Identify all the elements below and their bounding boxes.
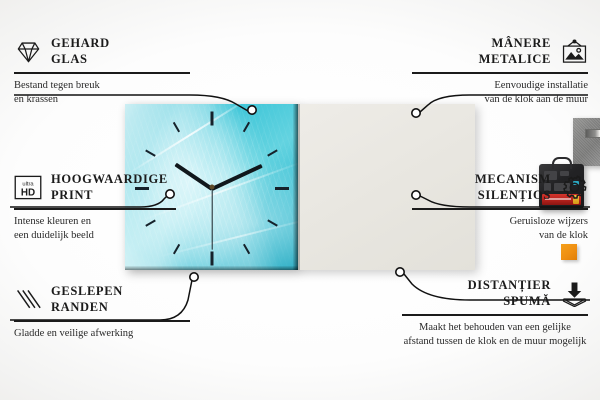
feature-description: Maakt het behouden van een gelijke afsta… [402, 321, 588, 350]
feature-header: MECANISM SILENȚIOS [412, 172, 588, 203]
feature-hd-print: ultra HD HOOGWAARDIGE PRINT Intense kleu… [14, 172, 176, 243]
metal-hanger-plate [573, 118, 600, 166]
second-hand [211, 188, 212, 250]
node-ground-edges [190, 273, 198, 281]
feature-header: GESLEPEN RANDEN [14, 284, 190, 315]
feature-description: Gladde en veilige afwerking [14, 327, 190, 341]
press-down-icon [560, 280, 588, 308]
foam-spacer [561, 244, 577, 260]
feature-title: MÂNERE METALICE [479, 36, 551, 67]
feature-title: GESLEPEN RANDEN [51, 284, 123, 315]
ultra-hd-icon: ultra HD [14, 174, 42, 202]
diagonal-lines-icon [14, 286, 42, 314]
feature-foam-spacer: DISTANȚIER SPUMĂ Maakt het behouden van … [402, 278, 588, 349]
feature-title: DISTANȚIER SPUMĂ [468, 278, 551, 309]
feature-rule [14, 320, 190, 322]
feature-header: GEHARD GLAS [14, 36, 190, 67]
mechanism-loop [552, 157, 572, 169]
feature-description: Geruisloze wijzers van de klok [412, 215, 588, 244]
picture-hanger-icon [560, 38, 588, 66]
clock-hub [209, 185, 214, 190]
feature-title: HOOGWAARDIGE PRINT [51, 172, 168, 203]
feature-ground-edges: GESLEPEN RANDEN Gladde en veilige afwerk… [14, 284, 190, 341]
hanger-slot [585, 129, 600, 138]
feature-title: MECANISM SILENȚIOS [475, 172, 551, 203]
feature-rule [14, 208, 176, 210]
clock-edge-shadow [125, 266, 298, 270]
feature-header: ultra HD HOOGWAARDIGE PRINT [14, 172, 176, 203]
feature-header: DISTANȚIER SPUMĂ [402, 278, 588, 309]
diamond-icon [14, 38, 42, 66]
feature-rule [402, 314, 588, 316]
clock-tick [210, 112, 213, 126]
gear-icon [560, 174, 588, 202]
feature-tempered-glass: GEHARD GLAS Bestand tegen breuk en krass… [14, 36, 190, 107]
feature-rule [412, 72, 588, 74]
feature-description: Eenvoudige installatie van de klok aan d… [412, 79, 588, 108]
panel-divider [298, 104, 300, 270]
feature-description: Intense kleuren en een duidelijk beeld [14, 215, 176, 244]
feature-description: Bestand tegen breuk en krassen [14, 79, 190, 108]
feature-rule [412, 208, 588, 210]
infographic-canvas: GEHARD GLAS Bestand tegen breuk en krass… [0, 0, 600, 400]
feature-rule [14, 72, 190, 74]
feature-metal-handles: MÂNERE METALICE Eenvoudige installatie v… [412, 36, 588, 107]
feature-silent-mechanism: MECANISM SILENȚIOS Geruisloze wijzers va… [412, 172, 588, 243]
clock-tick [275, 187, 289, 190]
metal-grain [573, 118, 600, 166]
clock-tick [210, 252, 213, 266]
svg-text:HD: HD [21, 187, 35, 198]
feature-header: MÂNERE METALICE [412, 36, 588, 67]
feature-title: GEHARD GLAS [51, 36, 110, 67]
